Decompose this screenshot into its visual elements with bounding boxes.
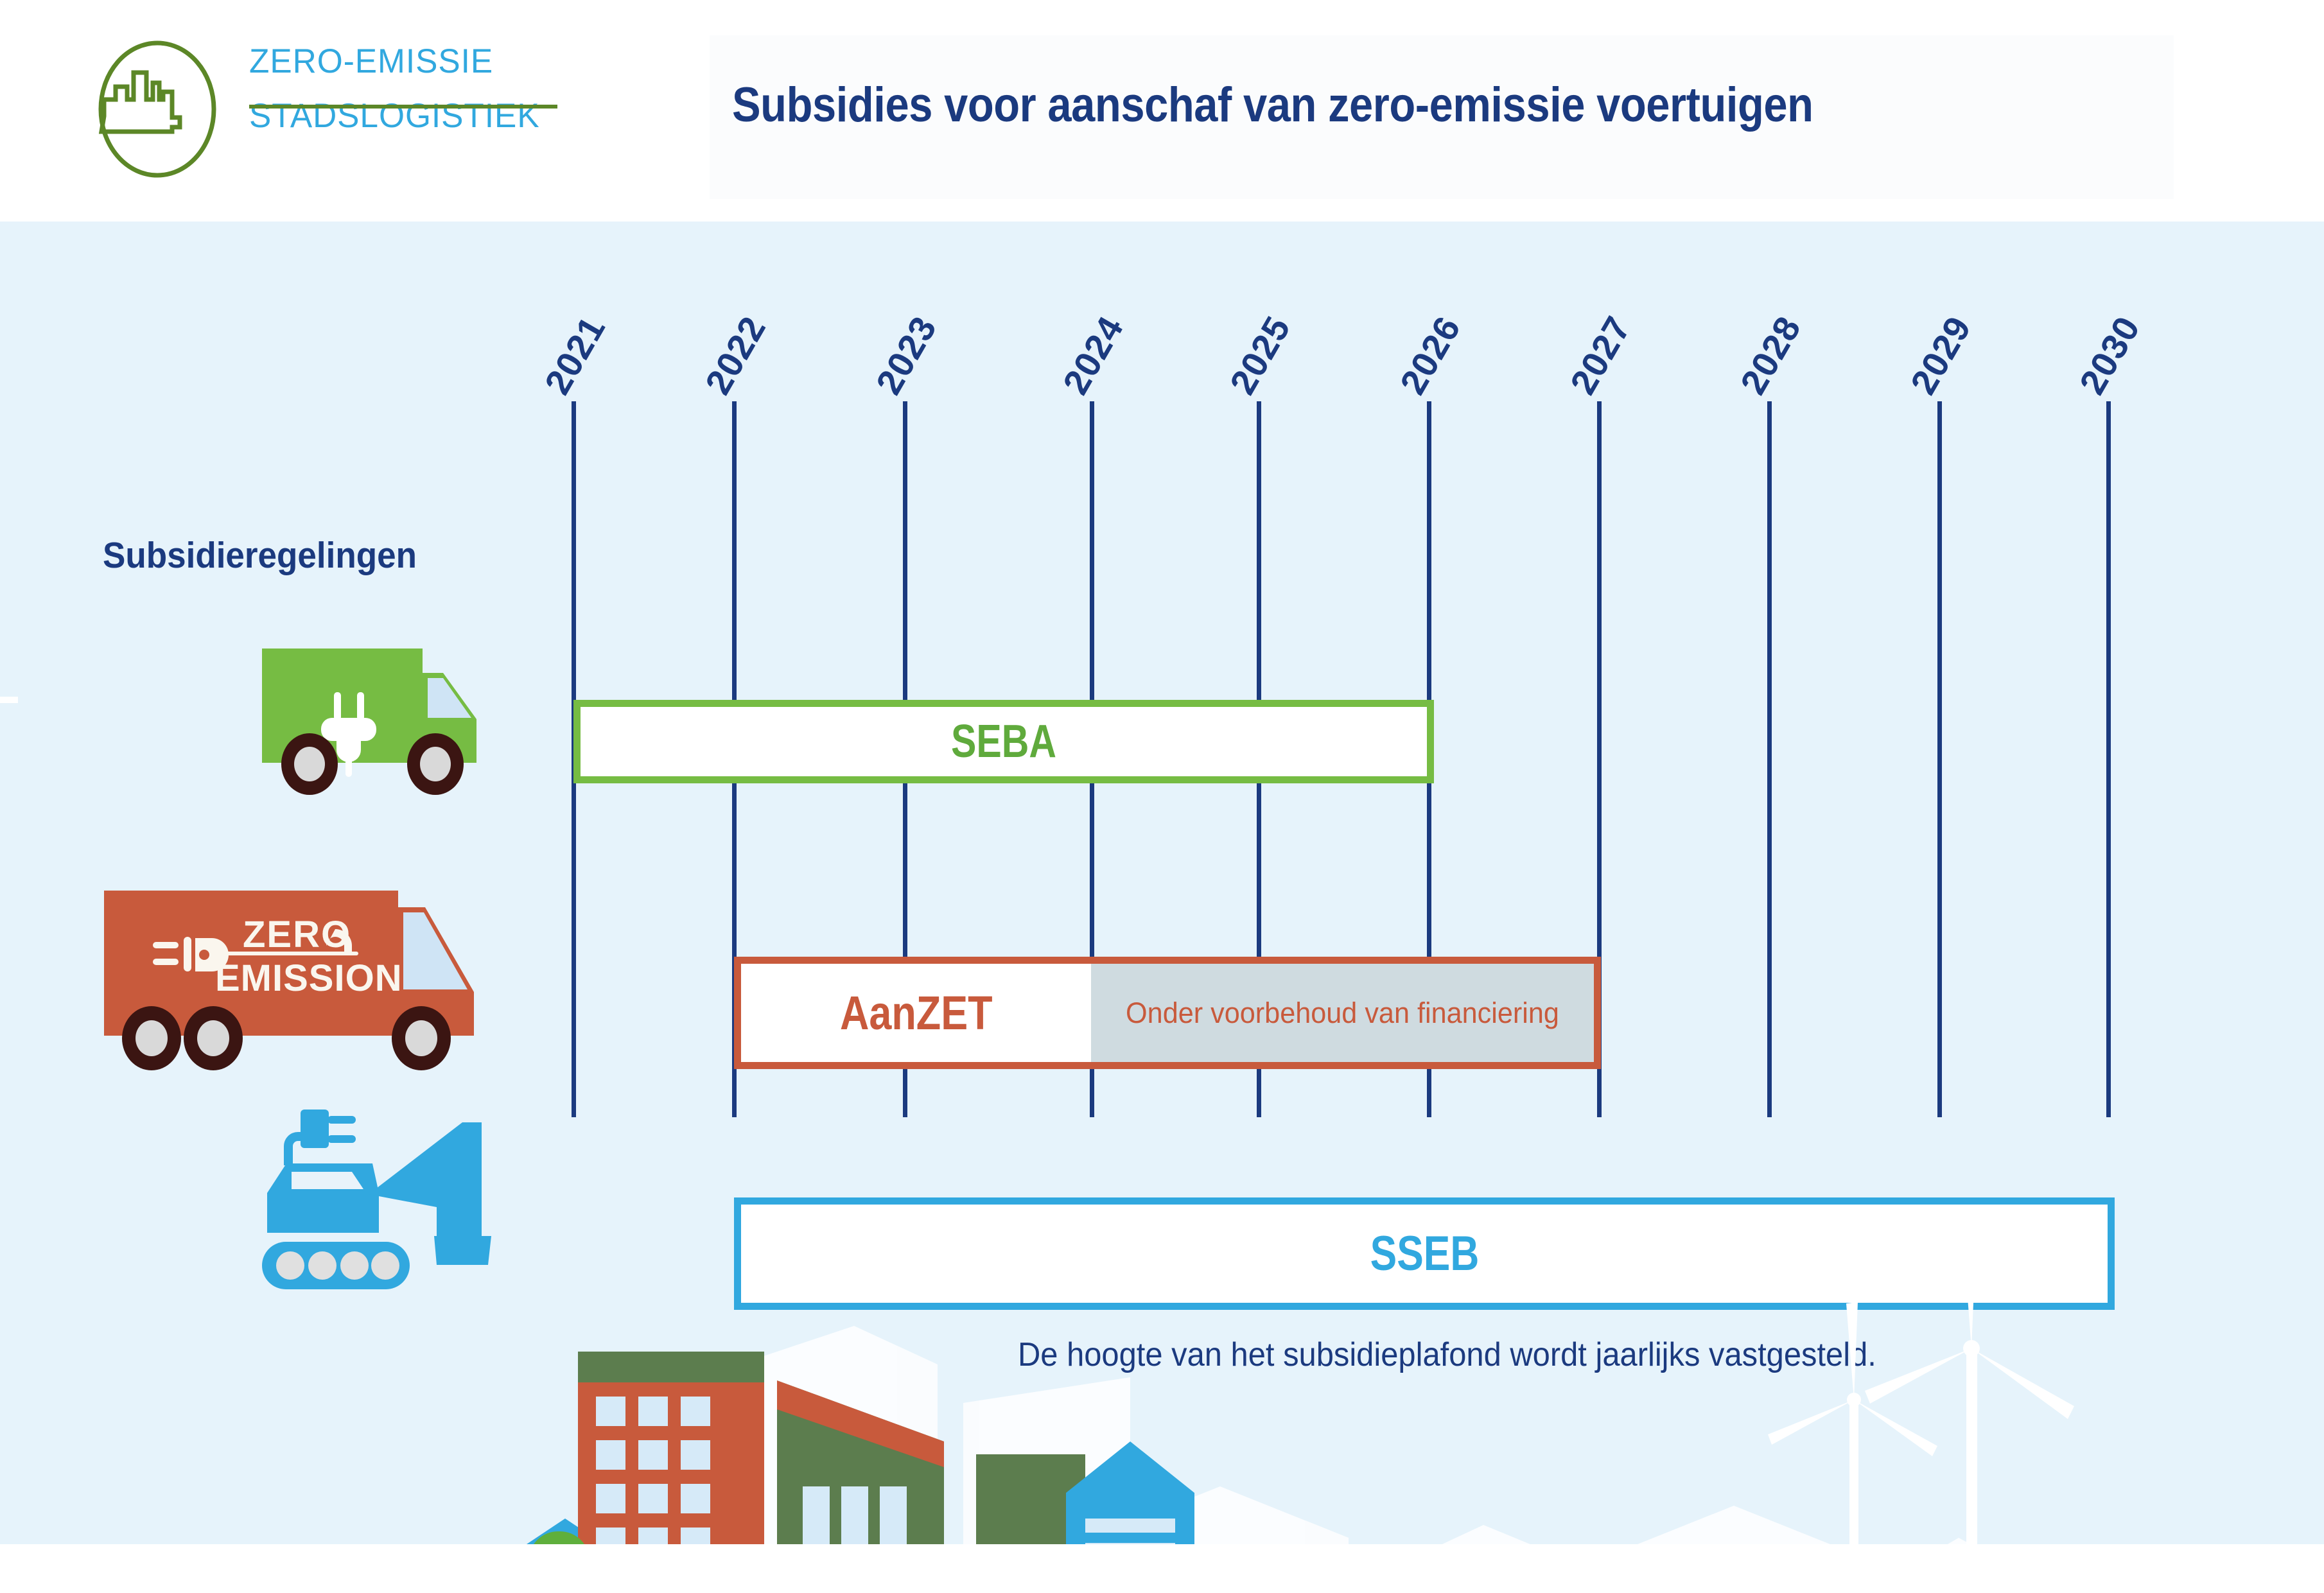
logo-wordmark: ZERO-EMISSIE STADSLOGISTIEK [249, 44, 557, 134]
cityscape-illustration: ZERO EMISSION [0, 1281, 2324, 1544]
year-label-2030: 2030 [2071, 309, 2149, 401]
year-label-2023: 2023 [868, 309, 945, 401]
year-label-2021: 2021 [536, 309, 614, 401]
logo-line-2: STADSLOGISTIEK [249, 99, 548, 134]
year-label-2024: 2024 [1054, 309, 1132, 401]
svg-text:EMISSION: EMISSION [215, 957, 403, 999]
bar-sseb-label: SSEB [1370, 1226, 1479, 1282]
page-title: Subsidies voor aanschaf van zero-emissie… [732, 77, 1992, 133]
year-label-2027: 2027 [1562, 309, 1639, 401]
city-skyline-oval-logo-icon [96, 40, 238, 178]
logo-line-1: ZERO-EMISSIE [249, 44, 548, 80]
year-label-2028: 2028 [1732, 309, 1810, 401]
year-label-2029: 2029 [1902, 309, 1980, 401]
bar-aanzet-primary-segment: AanZET [741, 964, 1091, 1062]
year-label-2022: 2022 [697, 309, 774, 401]
year-label-2026: 2026 [1392, 309, 1469, 401]
svg-text:ZERO: ZERO [243, 914, 351, 955]
bar-aanzet-note: Onder voorbehoud van financiering [1126, 997, 1559, 1030]
blue-electric-excavator-icon [250, 1104, 507, 1300]
bar-seba[interactable]: SEBA [573, 700, 1434, 783]
year-gridline-2028 [1767, 401, 1772, 1117]
year-gridline-2029 [1937, 401, 1942, 1117]
bar-seba-label: SEBA [951, 715, 1056, 768]
year-label-2025: 2025 [1221, 309, 1299, 401]
chart-canvas: Subsidieregelingen [0, 222, 2324, 1544]
green-electric-van-icon [250, 642, 501, 799]
year-gridline-2030 [2106, 401, 2111, 1117]
bar-aanzet-label: AanZET [840, 986, 993, 1040]
logo-divider [249, 105, 557, 109]
red-zero-emission-truck-icon: ZERO EMISSION [96, 883, 507, 1075]
left-edge-notch [0, 697, 18, 703]
brand-logo: ZERO-EMISSIE STADSLOGISTIEK [96, 35, 565, 183]
bar-aanzet[interactable]: AanZET Onder voorbehoud van financiering [734, 957, 1601, 1069]
bar-aanzet-conditional-segment: Onder voorbehoud van financiering [1091, 964, 1594, 1062]
footer-white-band [0, 1544, 2324, 1593]
axis-title-subsidieregelingen: Subsidieregelingen [103, 534, 417, 577]
